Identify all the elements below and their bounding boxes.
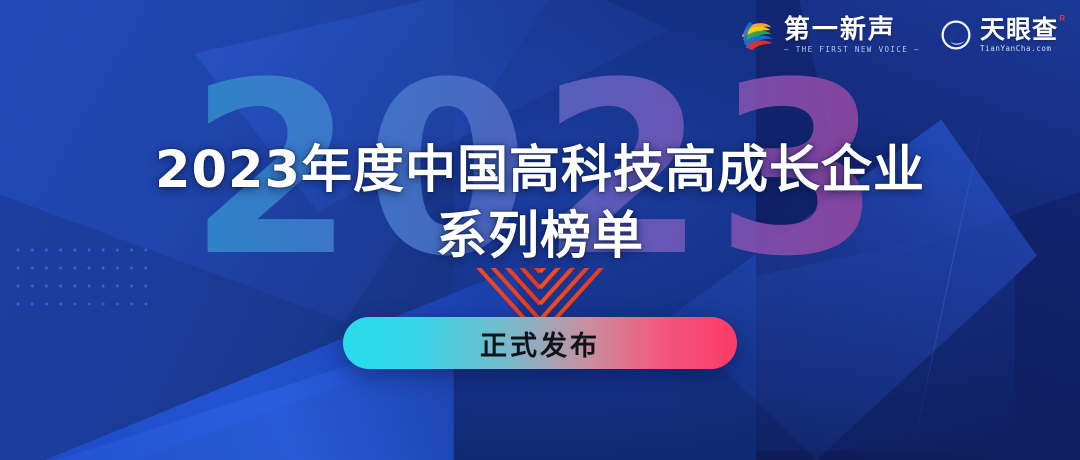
title-line-2: 系列榜单 bbox=[0, 204, 1080, 270]
first-new-voice-name: 第一新声 bbox=[784, 17, 920, 43]
first-new-voice-text: 第一新声 — THE FIRST NEW VOICE — bbox=[784, 17, 920, 54]
first-new-voice-tagline: — THE FIRST NEW VOICE — bbox=[784, 46, 920, 54]
page-title: 2023年度中国高科技高成长企业 系列榜单 bbox=[0, 138, 1080, 270]
trademark-icon: R bbox=[1059, 15, 1065, 23]
release-badge-label: 正式发布 bbox=[480, 324, 600, 363]
logo-first-new-voice[interactable]: 第一新声 — THE FIRST NEW VOICE — bbox=[738, 16, 920, 54]
camera-eye-icon bbox=[940, 19, 972, 51]
tianyancha-text: 天眼查 TianYanCha.com R bbox=[980, 17, 1058, 53]
logo-tianyancha[interactable]: 天眼查 TianYanCha.com R bbox=[940, 17, 1058, 53]
poster-banner: 2023 2023年度中国高科技高成长企业 系列榜单 正式发布 bbox=[0, 0, 1080, 460]
tianyancha-name: 天眼查 bbox=[980, 17, 1058, 42]
logo-bar: 第一新声 — THE FIRST NEW VOICE — 天眼查 TianYan… bbox=[738, 16, 1058, 54]
swirl-globe-icon bbox=[738, 16, 776, 54]
tianyancha-tagline: TianYanCha.com bbox=[980, 45, 1058, 53]
release-badge[interactable]: 正式发布 bbox=[343, 317, 737, 369]
title-line-1: 2023年度中国高科技高成长企业 bbox=[0, 138, 1080, 204]
